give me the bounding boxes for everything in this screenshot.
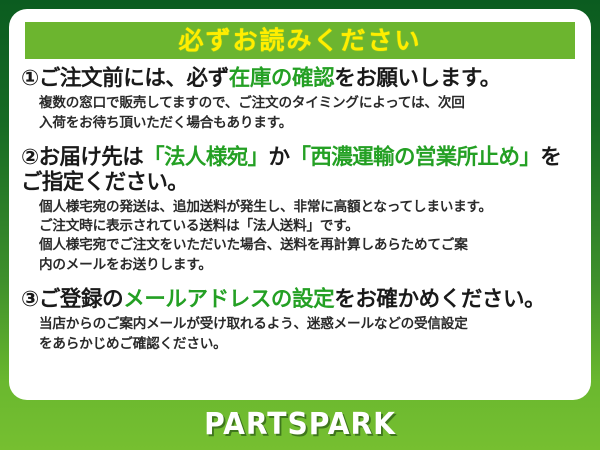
- notice-item-1-body-line-2: 入荷をお待ち頂いただく場合もあります。: [39, 114, 581, 133]
- notice-item-2: ②お届け先は「法人様宛」か「西濃運輸の営業所止め」をご指定ください。 個人様宅宛…: [21, 145, 581, 275]
- notice-item-3-marker: ③: [21, 287, 39, 312]
- header-title: 必ずお読みください: [178, 28, 421, 53]
- notice-item-2-body-line-4: 内のメールをお送りします。: [39, 256, 581, 275]
- notice-list: ①ご注文前には、必ず在庫の確認をお願いします。 複数の窓口で販売してますので、ご…: [9, 66, 591, 356]
- notice-item-3-highlight: メールアドレスの設定: [123, 287, 334, 312]
- notice-item-3-text-a: ご登録の: [39, 287, 123, 312]
- notice-item-2-headline: ②お届け先は「法人様宛」か「西濃運輸の営業所止め」をご指定ください。: [21, 145, 581, 196]
- notice-item-2-body-line-3: 個人様宅宛でご注文をいただいた場合、送料を再計算しあらためてご案: [39, 236, 581, 255]
- notice-banner: 必ずお読みください ①ご注文前には、必ず在庫の確認をお願いします。 複数の窓口で…: [0, 0, 600, 450]
- header-ribbon: 必ずお読みください: [25, 22, 575, 59]
- notice-item-1-text-b: をお願いします。: [334, 66, 501, 91]
- footer-bar: PARTSPARK: [0, 400, 600, 450]
- notice-item-1-body: 複数の窓口で販売してますので、ご注文のタイミングによっては、次回 入荷をお待ち頂…: [39, 94, 581, 133]
- notice-item-2-marker: ②: [21, 145, 39, 170]
- notice-item-1-highlight: 在庫の確認: [229, 66, 335, 91]
- notice-item-2-body-line-2: ご注文時に表示されている送料は「法人送料」です。: [39, 217, 581, 236]
- brand-logo-text: PARTSPARK: [204, 410, 396, 440]
- notice-item-3-body-line-2: をあらかじめご確認ください。: [39, 335, 581, 354]
- notice-item-3-text-b: をお確かめください。: [334, 287, 545, 312]
- notice-panel: 必ずお読みください ①ご注文前には、必ず在庫の確認をお願いします。 複数の窓口で…: [9, 9, 591, 400]
- notice-item-3: ③ご登録のメールアドレスの設定をお確かめください。 当店からのご案内メールが受け…: [21, 287, 581, 354]
- notice-item-2-text-a: お届け先は: [39, 145, 144, 170]
- notice-item-2-highlight-b: 「西濃運輸の営業所止め」: [289, 145, 540, 170]
- notice-item-3-body-line-1: 当店からのご案内メールが受け取れるよう、迷惑メールなどの受信設定: [39, 315, 581, 334]
- notice-item-1-body-line-1: 複数の窓口で販売してますので、ご注文のタイミングによっては、次回: [39, 94, 581, 113]
- notice-item-1-text-a: ご注文前には、必ず: [39, 66, 229, 91]
- notice-item-3-body: 当店からのご案内メールが受け取れるよう、迷惑メールなどの受信設定 をあらかじめご…: [39, 315, 581, 354]
- notice-item-1: ①ご注文前には、必ず在庫の確認をお願いします。 複数の窓口で販売してますので、ご…: [21, 66, 581, 133]
- notice-item-2-body: 個人様宅宛の発送は、追加送料が発生し、非常に高額となってしまいます。 ご注文時に…: [39, 198, 581, 275]
- notice-item-1-headline: ①ご注文前には、必ず在庫の確認をお願いします。: [21, 66, 581, 91]
- notice-item-1-marker: ①: [21, 66, 39, 91]
- notice-item-2-highlight-a: 「法人様宛」: [143, 145, 268, 170]
- notice-item-2-text-b: か: [269, 145, 290, 170]
- notice-item-2-body-line-1: 個人様宅宛の発送は、追加送料が発生し、非常に高額となってしまいます。: [39, 198, 581, 217]
- notice-item-3-headline: ③ご登録のメールアドレスの設定をお確かめください。: [21, 287, 581, 312]
